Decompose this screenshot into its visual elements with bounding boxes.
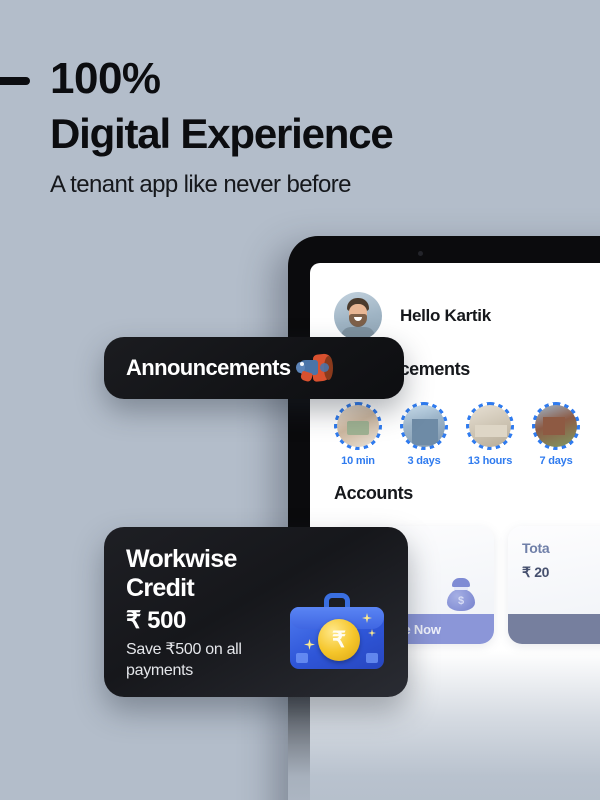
story-ring bbox=[400, 402, 448, 450]
story-thumb-room bbox=[337, 405, 379, 447]
workwise-title: Workwise Credit bbox=[126, 545, 286, 603]
avatar[interactable] bbox=[334, 292, 382, 340]
story-ring bbox=[334, 402, 382, 450]
hero-subtitle: A tenant app like never before bbox=[50, 170, 600, 200]
story-item[interactable]: 3 days bbox=[400, 402, 448, 467]
account-card-amount: ₹ 20 bbox=[508, 556, 600, 581]
story-label: 3 days bbox=[400, 455, 448, 467]
greeting-row: Hello Kartik bbox=[310, 289, 600, 343]
workwise-credit-feature-card[interactable]: Workwise Credit ₹ 500 Save ₹500 on all p… bbox=[104, 527, 408, 697]
money-bag-icon: $ bbox=[444, 578, 478, 612]
story-ring bbox=[466, 402, 514, 450]
announcements-stories: 10 min 3 days 13 hours bbox=[310, 402, 600, 467]
story-label: 7 days bbox=[532, 455, 580, 467]
hero-block: 100% Digital Experience A tenant app lik… bbox=[0, 54, 600, 200]
story-thumb-facade bbox=[469, 405, 511, 447]
story-item[interactable]: 10 min bbox=[334, 402, 382, 467]
hero-title: Digital Experience bbox=[50, 110, 600, 158]
dash-icon bbox=[0, 77, 30, 85]
announcements-feature-pill[interactable]: Announcements bbox=[104, 337, 404, 399]
story-thumb-house bbox=[535, 405, 577, 447]
workwise-note: Save ₹500 on all payments bbox=[126, 639, 286, 681]
megaphone-icon bbox=[293, 353, 335, 383]
account-card-total[interactable]: Tota ₹ 20 bbox=[508, 526, 600, 644]
account-card-title: Tota bbox=[508, 526, 600, 556]
story-label: 13 hours bbox=[466, 455, 514, 467]
hero-percent: 100% bbox=[50, 54, 600, 104]
story-item[interactable]: 13 hours bbox=[466, 402, 514, 467]
account-card-button[interactable] bbox=[508, 614, 600, 644]
briefcase-rupee-icon: ₹ bbox=[288, 593, 386, 673]
story-ring bbox=[532, 402, 580, 450]
tablet-device: Hello Kartik Announcements 10 min 3 bbox=[288, 236, 600, 800]
story-thumb-building bbox=[403, 405, 445, 447]
camera-dot-icon bbox=[418, 251, 423, 256]
accounts-heading: Accounts bbox=[310, 483, 600, 504]
greeting-name: Hello Kartik bbox=[400, 306, 491, 326]
announcements-pill-label: Announcements bbox=[126, 355, 291, 381]
story-label: 10 min bbox=[334, 455, 382, 467]
story-item[interactable]: 7 days bbox=[532, 402, 580, 467]
